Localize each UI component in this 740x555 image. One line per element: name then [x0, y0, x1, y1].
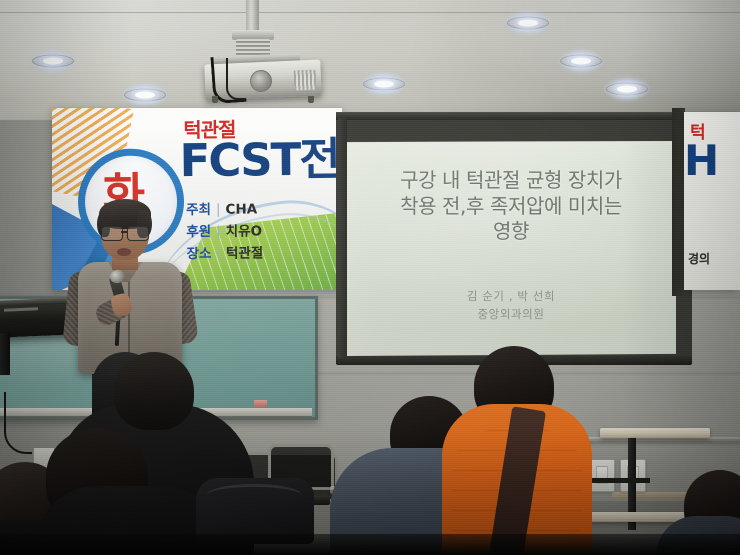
ceiling-light: [505, 12, 551, 34]
ceiling-light: [30, 50, 76, 72]
slide-affiliation: 중앙외과의원: [358, 306, 664, 324]
projector-mount-pole: [246, 0, 259, 34]
secondary-banner-big: H: [684, 140, 716, 182]
ceiling-light: [361, 73, 407, 95]
projector-foot: [308, 96, 314, 103]
slide-authors: 김 순기 , 박 선희: [358, 288, 664, 306]
ceiling-light: [604, 78, 650, 100]
banner-info-key: 후원: [186, 224, 211, 240]
banner-info-sep: |: [211, 224, 226, 240]
screen-edge-shadow: [338, 118, 347, 358]
slide-title-line: 구강 내 턱관절 균형 장치가: [358, 168, 664, 194]
banner-info-key: 주최: [186, 202, 211, 218]
projector-cable: [226, 58, 246, 100]
audience-head: [114, 352, 194, 430]
slide-title-line: 영향: [358, 219, 664, 245]
slide-title-line: 착용 전,후 족저압에 미치는: [358, 194, 664, 220]
speaker-glasses: [100, 226, 150, 239]
banner-info-value: CHA: [225, 201, 257, 217]
banner-info-row: 후원|치유O: [186, 221, 263, 244]
foreground-shadow: [0, 534, 740, 555]
slide-authors-block: 김 순기 , 박 선희 중앙외과의원: [358, 288, 664, 324]
chalkboard-eraser: [254, 400, 267, 407]
secondary-banner: 턱 H 경의: [684, 112, 740, 290]
ceiling-light: [122, 84, 168, 106]
banner-info-value: 턱관절: [226, 245, 263, 261]
desk-crossbar: [590, 478, 650, 483]
projector-vent: [294, 70, 317, 91]
light-switch-plate[interactable]: [589, 459, 615, 492]
banner-title-text: FCST전: [179, 137, 339, 184]
banner-info-sep: |: [211, 245, 226, 261]
banner-info-key: 장소: [186, 246, 211, 262]
backpack-strap: [206, 484, 302, 507]
banner-info-value: 치유O: [226, 223, 262, 239]
banner-info-sep: |: [211, 202, 226, 218]
banner-info-lines: 주최|CHA 후원|치유O 장소|턱관절: [186, 199, 263, 265]
banner-info-row: 장소|턱관절: [186, 243, 263, 266]
podium-leg: [0, 333, 10, 375]
banner-info-row: 주최|CHA: [186, 199, 263, 222]
speaker-mouth: [117, 248, 131, 256]
projector-mount-collar: [232, 30, 274, 39]
secondary-banner-small: 경의: [688, 250, 710, 267]
desk: [600, 428, 710, 438]
photo-scene: 화 턱관절 FCST전 주최|CHA 후원|치유O 장소|턱관절 구강 내 턱관…: [0, 0, 740, 555]
ceiling-seam: [0, 12, 740, 13]
projector-foot: [212, 96, 218, 103]
slide-title: 구강 내 턱관절 균형 장치가 착용 전,후 족저압에 미치는 영향: [358, 168, 664, 245]
projection-screen-roller: [336, 112, 692, 120]
floor-cable: [4, 392, 32, 454]
ceiling-light: [558, 50, 604, 72]
